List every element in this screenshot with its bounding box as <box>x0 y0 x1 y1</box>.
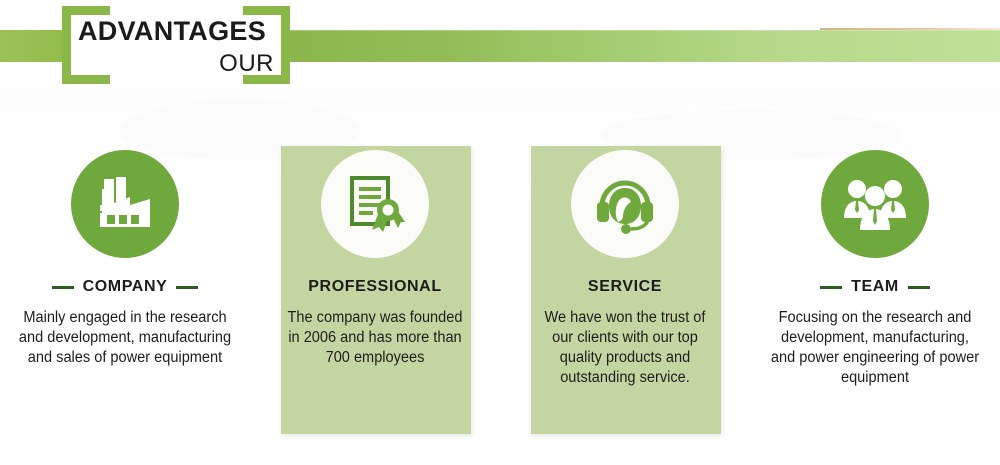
advantage-description: Focusing on the research and development… <box>769 308 981 388</box>
header-bar-accent-line <box>820 28 1000 30</box>
right-bracket-top <box>243 6 290 15</box>
advantage-column-service: SERVICE We have won the trust of our cli… <box>500 100 750 465</box>
label-dash-right <box>176 286 198 289</box>
service-label-row: SERVICE <box>500 278 750 296</box>
service-icon-wrap <box>571 150 679 258</box>
factory-icon <box>71 150 179 258</box>
headset-support-icon <box>571 150 679 258</box>
team-label-row: TEAM <box>750 278 1000 296</box>
advantage-label: TEAM <box>851 278 899 296</box>
certificate-award-icon <box>321 150 429 258</box>
page-header: ADVANTAGES OUR <box>0 0 1000 92</box>
advantage-label: SERVICE <box>588 278 662 296</box>
advantage-description: The company was founded in 2006 and has … <box>286 308 465 368</box>
professional-label-row: PROFESSIONAL <box>250 278 500 296</box>
advantage-column-company: COMPANY Mainly engaged in the research a… <box>0 100 250 465</box>
advantage-description: Mainly engaged in the research and devel… <box>19 308 231 368</box>
advantage-label: PROFESSIONAL <box>308 278 441 296</box>
right-bracket-vertical <box>281 6 290 84</box>
advantage-label: COMPANY <box>83 278 168 296</box>
label-dash-left <box>820 286 842 289</box>
people-group-icon <box>821 150 929 258</box>
professional-icon-wrap <box>321 150 429 258</box>
left-bracket-bottom <box>62 75 110 84</box>
advantages-columns: COMPANY Mainly engaged in the research a… <box>0 100 1000 465</box>
page-title: ADVANTAGES <box>78 18 278 45</box>
company-icon-wrap <box>71 150 179 258</box>
advantage-column-professional: PROFESSIONAL The company was founded in … <box>250 100 500 465</box>
company-label-row: COMPANY <box>0 278 250 296</box>
label-dash-right <box>908 286 930 289</box>
team-icon-wrap <box>821 150 929 258</box>
left-bracket-vertical <box>62 6 71 84</box>
left-bracket-top <box>62 6 110 15</box>
label-dash-left <box>52 286 74 289</box>
advantage-column-team: TEAM Focusing on the research and develo… <box>750 100 1000 465</box>
page-title-prefix: OUR <box>78 52 274 76</box>
advantage-description: We have won the trust of our clients wit… <box>536 308 715 388</box>
